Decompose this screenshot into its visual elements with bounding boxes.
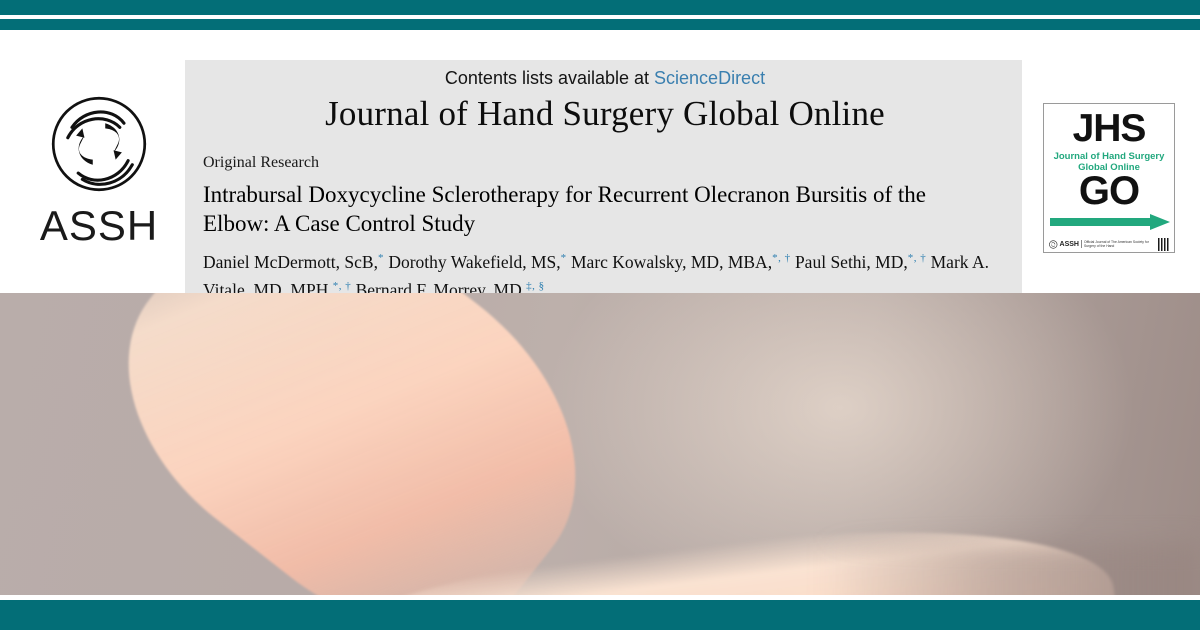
cover-subtitle-line1: Journal of Hand Surgery	[1044, 151, 1174, 162]
cover-acronym-go: GO	[1044, 170, 1174, 212]
assh-wordmark: ASSH	[40, 202, 158, 250]
cover-footer: ASSH Official Journal of The American So…	[1044, 234, 1174, 253]
distal-arm-fade	[820, 543, 1200, 595]
article-title: Intrabursal Doxycycline Sclerotherapy fo…	[203, 180, 963, 238]
sciencedirect-link[interactable]: ScienceDirect	[654, 68, 765, 88]
assh-logo: ASSH	[14, 92, 184, 257]
journal-cover-thumbnail: JHS Journal of Hand Surgery Global Onlin…	[1043, 103, 1175, 253]
contents-prefix: Contents lists available at	[445, 68, 649, 88]
top-rule-secondary	[0, 19, 1200, 30]
cover-assh-text: ASSH	[1060, 241, 1079, 248]
article-type: Original Research	[203, 154, 319, 172]
contents-line: Contents lists available at ScienceDirec…	[195, 68, 1015, 89]
journal-title: Journal of Hand Surgery Global Online	[195, 94, 1015, 134]
assh-badge-icon	[1049, 239, 1058, 250]
elsevier-logo-icon	[1158, 238, 1169, 251]
green-arrow-icon	[1050, 214, 1170, 230]
masthead: ASSH Contents lists available at Science…	[0, 30, 1200, 293]
cover-acronym-jhs: JHS	[1044, 109, 1174, 149]
author-line-1: Daniel McDermott, ScB,* Dorothy Wakefiel…	[203, 252, 926, 272]
cover-assh-note: Official Journal of The American Society…	[1081, 240, 1158, 248]
top-rule-primary	[0, 0, 1200, 15]
cover-assh-badge: ASSH Official Journal of The American So…	[1049, 239, 1158, 250]
journal-article-banner: ASSH Contents lists available at Science…	[0, 0, 1200, 630]
bottom-rule	[0, 600, 1200, 630]
hero-illustration: Olecranon Bursitis journal homepage: www…	[0, 293, 1200, 595]
assh-circular-hands-icon	[47, 92, 151, 196]
